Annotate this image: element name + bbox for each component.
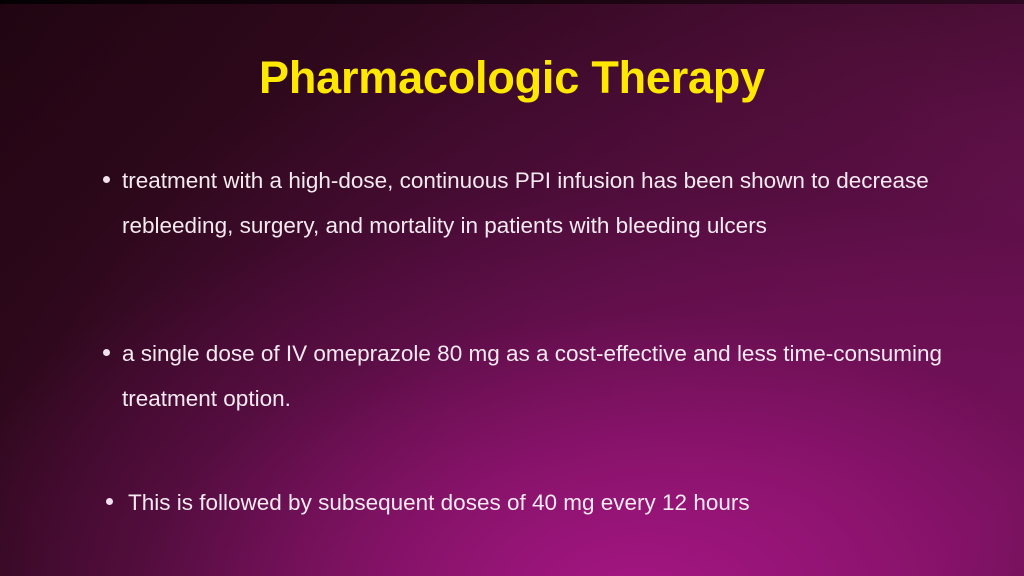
bullet-spacer-1: [96, 248, 952, 331]
bullet-item-2: a single dose of IV omeprazole 80 mg as …: [96, 331, 952, 421]
slide-body-content: treatment with a high-dose, continuous P…: [96, 158, 952, 525]
bullet-dot-icon: [103, 176, 110, 183]
bullet-item-2-text: a single dose of IV omeprazole 80 mg as …: [122, 331, 952, 421]
bullet-dot-icon: [106, 498, 113, 505]
bullet-item-3-text: This is followed by subsequent doses of …: [128, 480, 952, 525]
bullet-spacer-2: [96, 421, 952, 480]
slide-top-edge-band: [0, 0, 1024, 4]
slide-title: Pharmacologic Therapy: [0, 52, 1024, 104]
bullet-item-3: This is followed by subsequent doses of …: [96, 480, 952, 525]
bullet-item-1: treatment with a high-dose, continuous P…: [96, 158, 952, 248]
bullet-item-1-text: treatment with a high-dose, continuous P…: [122, 158, 952, 248]
presentation-slide: Pharmacologic Therapy treatment with a h…: [0, 0, 1024, 576]
bullet-dot-icon: [103, 349, 110, 356]
